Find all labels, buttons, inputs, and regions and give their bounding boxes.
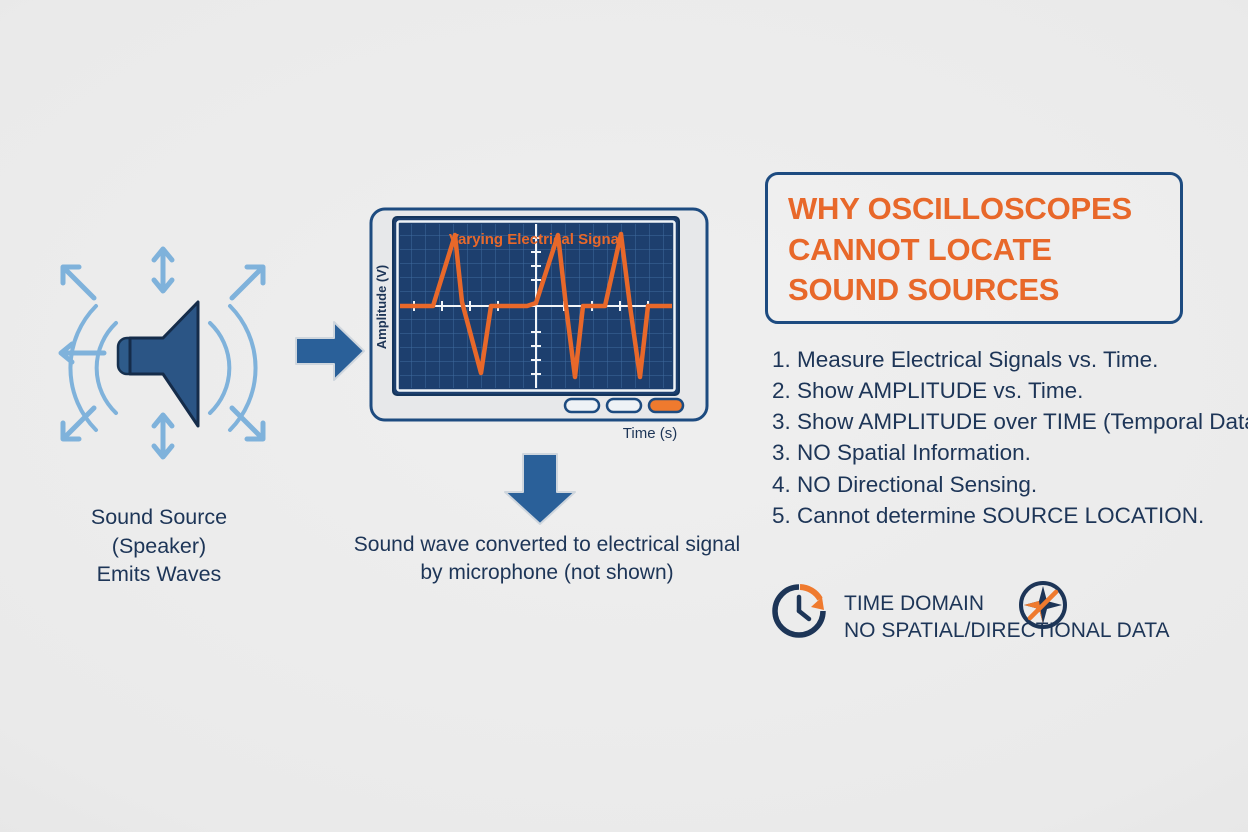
list-item-number: 2. — [772, 378, 791, 403]
list-item: 3. NO Spatial Information. — [772, 437, 1248, 468]
summary-badges: TIME DOMAIN NO SPATIAL/DIRECTIONAL DATA — [770, 578, 1240, 646]
caption-line: Sound Source — [28, 503, 290, 532]
list-item-label: NO Directional Sensing. — [797, 472, 1037, 497]
scope-button-bar — [565, 399, 683, 412]
scope-x-axis-label: Time (s) — [590, 425, 710, 442]
arrow-right-icon — [292, 316, 368, 386]
list-item-number: 3. — [772, 409, 791, 434]
list-item-label: Measure Electrical Signals vs. Time. — [797, 347, 1158, 372]
list-item-label: Show AMPLITUDE vs. Time. — [797, 378, 1083, 403]
scope-y-axis-label: Amplitude (V) — [374, 265, 389, 350]
list-item: 4. NO Directional Sensing. — [772, 469, 1248, 500]
sound-source-caption: Sound Source (Speaker) Emits Waves — [28, 503, 290, 589]
scope-screen-title: Varying Electrical Signal — [449, 231, 623, 248]
list-item: 1. Measure Electrical Signals vs. Time. — [772, 344, 1248, 375]
list-item-label: Show AMPLITUDE over TIME (Temporal Data) — [797, 409, 1248, 434]
caption-line: (Speaker) — [28, 532, 290, 561]
badge-line-no-spatial: NO SPATIAL/DIRECTIONAL DATA — [844, 617, 1170, 644]
list-item-number: 5. — [772, 503, 791, 528]
title-line: CANNOT LOCATE — [788, 230, 1170, 271]
badge-text-block: TIME DOMAIN NO SPATIAL/DIRECTIONAL DATA — [844, 590, 1170, 645]
speaker-icon — [118, 302, 198, 426]
compass-no-icon-svg — [1016, 578, 1070, 632]
clock-arrow-icon — [770, 582, 828, 640]
oscilloscope-svg: Varying Electrical Signal Amplitude (V) — [369, 207, 709, 422]
panel-title: WHY OSCILLOSCOPES CANNOT LOCATE SOUND SO… — [788, 189, 1170, 311]
list-item-number: 4. — [772, 472, 791, 497]
microphone-conversion-caption: Sound wave converted to electrical signa… — [332, 531, 762, 587]
arrow-down-scope-to-caption — [497, 450, 583, 528]
arrow-up-left-icon — [63, 267, 94, 298]
caption-line: by microphone (not shown) — [332, 559, 762, 587]
oscilloscope: Varying Electrical Signal Amplitude (V) — [369, 207, 709, 422]
compass-no-icon — [1016, 578, 1070, 632]
list-item-number: 1. — [772, 347, 791, 372]
sound-source-illustration — [18, 228, 308, 478]
scope-button-3[interactable] — [649, 399, 683, 412]
caption-line: Sound wave converted to electrical signa… — [332, 531, 762, 559]
infographic-canvas: Sound Source (Speaker) Emits Waves — [0, 0, 1248, 832]
list-item: 5. Cannot determine SOURCE LOCATION. — [772, 500, 1248, 531]
caption-line: Emits Waves — [28, 560, 290, 589]
reasons-list: 1. Measure Electrical Signals vs. Time. … — [772, 344, 1248, 531]
arrow-down-icon — [154, 415, 172, 457]
arrow-up-right-icon — [232, 267, 263, 298]
title-box: WHY OSCILLOSCOPES CANNOT LOCATE SOUND SO… — [765, 172, 1183, 324]
scope-button-1[interactable] — [565, 399, 599, 412]
scope-button-2[interactable] — [607, 399, 641, 412]
arrow-down-icon — [497, 450, 583, 528]
speaker-waves-svg — [18, 228, 308, 478]
badge-line-time-domain: TIME DOMAIN — [844, 590, 1170, 617]
clock-arrow-icon-svg — [770, 582, 828, 640]
list-item-number: 3. — [772, 440, 791, 465]
scope-screen — [400, 224, 672, 388]
arrow-right-speaker-to-scope — [292, 316, 368, 386]
title-line: WHY OSCILLOSCOPES — [788, 189, 1170, 230]
list-item-label: Cannot determine SOURCE LOCATION. — [797, 503, 1204, 528]
list-item: 3. Show AMPLITUDE over TIME (Temporal Da… — [772, 406, 1248, 437]
title-line: SOUND SOURCES — [788, 270, 1170, 311]
list-item: 2. Show AMPLITUDE vs. Time. — [772, 375, 1248, 406]
list-item-label: NO Spatial Information. — [797, 440, 1031, 465]
arrow-up-icon — [154, 249, 172, 291]
